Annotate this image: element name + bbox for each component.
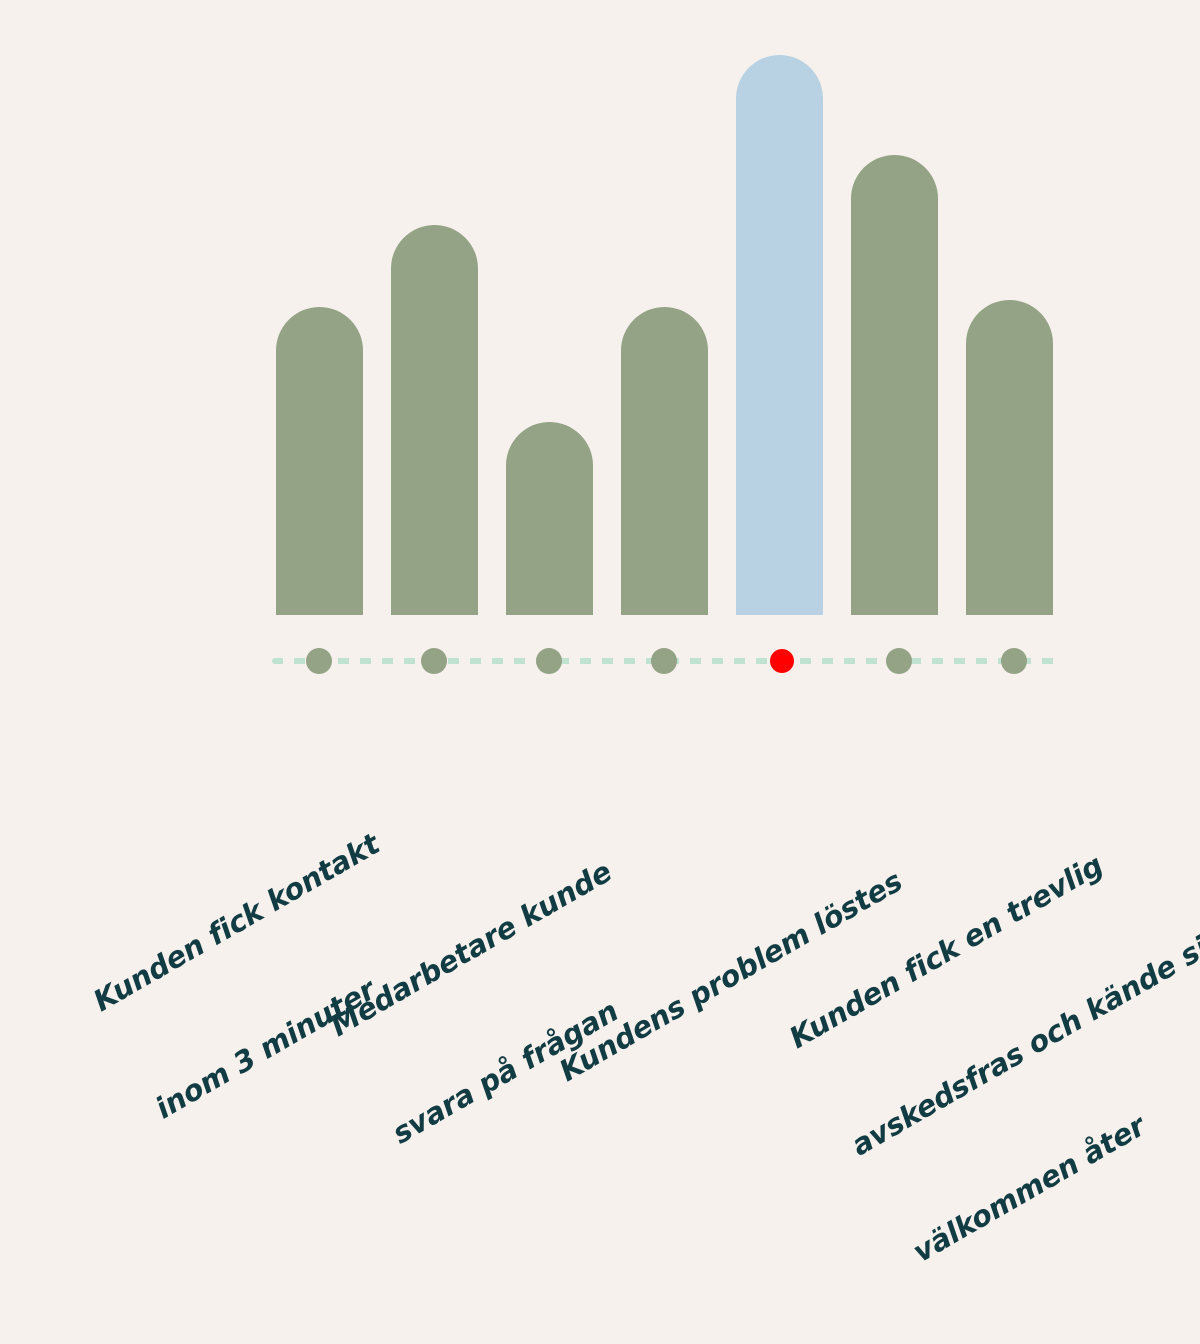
axis-marker-6[interactable] [886,648,912,674]
bar-2[interactable] [391,225,478,615]
bar-6[interactable] [851,155,938,615]
axis-marker-1[interactable] [306,648,332,674]
axis-marker-7[interactable] [1001,648,1027,674]
category-label-4-line-3: välkommen åter [906,1024,1200,1273]
bar-5-highlighted[interactable] [736,55,823,615]
bar-1[interactable] [276,307,363,615]
bar-3[interactable] [506,422,593,615]
axis-marker-3[interactable] [536,648,562,674]
axis-marker-5-highlighted[interactable] [770,649,794,673]
chart-canvas: Kunden fick kontakt inom 3 minuter Medar… [0,0,1200,1086]
bar-7[interactable] [966,300,1053,615]
bar-4[interactable] [621,307,708,615]
axis-marker-4[interactable] [651,648,677,674]
axis-marker-2[interactable] [421,648,447,674]
